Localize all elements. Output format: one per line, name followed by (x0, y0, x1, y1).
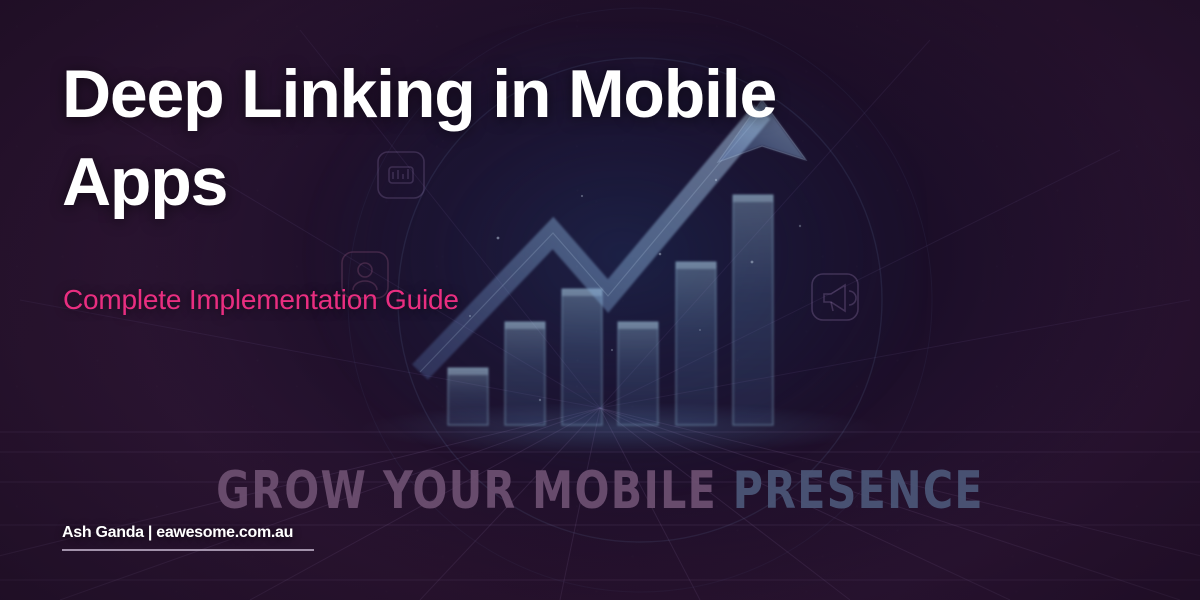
footer-divider (62, 549, 314, 551)
banner-canvas: GROW YOUR MOBILE PRESENCE Deep Linking i… (0, 0, 1200, 600)
author-and-site: Ash Ganda | eawesome.com.au (62, 523, 314, 543)
content-layer: Deep Linking in Mobile Apps Complete Imp… (0, 0, 1200, 600)
page-subtitle: Complete Implementation Guide (63, 283, 459, 317)
footer-attribution: Ash Ganda | eawesome.com.au (62, 523, 314, 551)
page-title: Deep Linking in Mobile Apps (62, 50, 892, 226)
